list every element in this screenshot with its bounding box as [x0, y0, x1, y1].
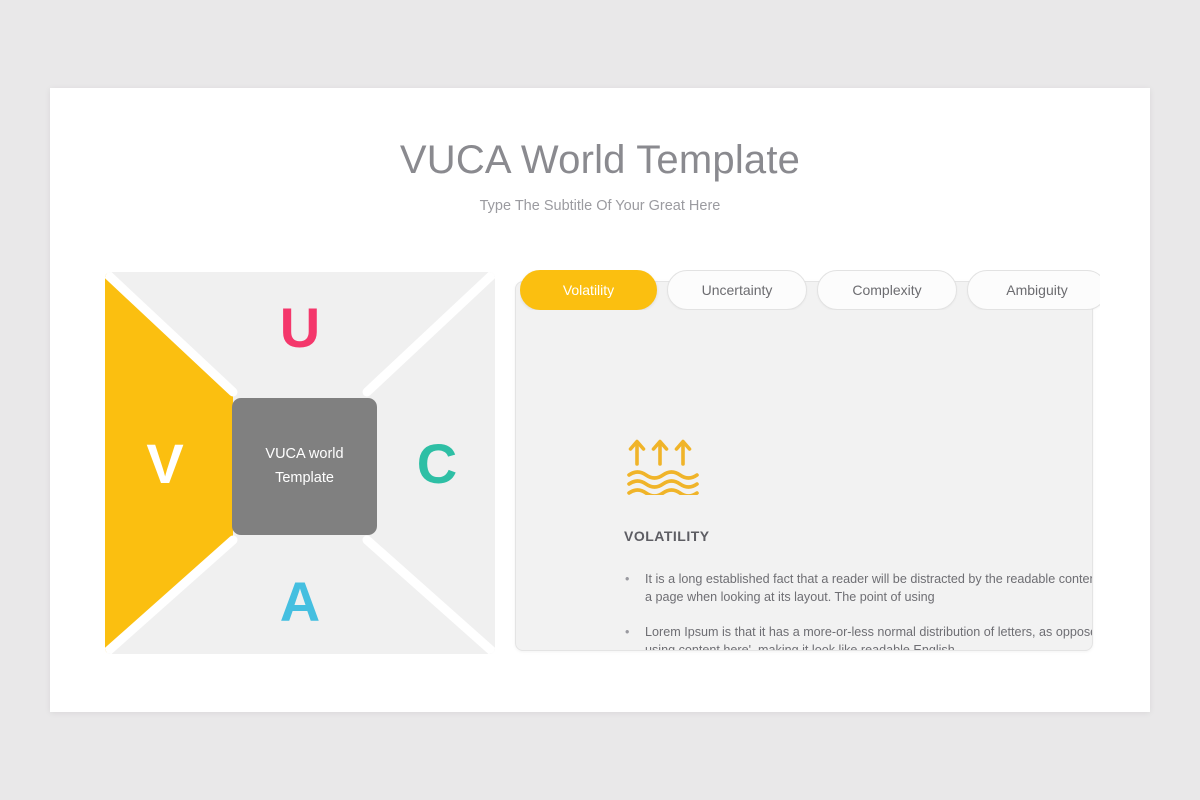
page-subtitle: Type The Subtitle Of Your Great Here [50, 198, 1150, 214]
page-title: VUCA World Template [50, 138, 1150, 182]
tab-ambiguity[interactable]: Ambiguity [967, 270, 1100, 310]
vuca-letter-v[interactable]: V [135, 436, 195, 492]
vuca-center-box[interactable]: VUCA world Template [232, 398, 377, 535]
panel-heading: VOLATILITY [624, 528, 710, 544]
tab-ambiguity-label: Ambiguity [1006, 282, 1067, 298]
vuca-diagram: VUCA world Template V U C A [105, 272, 495, 654]
tab-uncertainty[interactable]: Uncertainty [667, 270, 807, 310]
vuca-center-line-2: Template [275, 467, 334, 490]
vuca-letter-u[interactable]: U [270, 300, 330, 356]
wave-lines-group [629, 472, 697, 495]
list-item-text: It is a long established fact that a rea… [645, 572, 1093, 604]
tab-complexity[interactable]: Complexity [817, 270, 957, 310]
list-item: • Lorem Ipsum is that it has a more-or-l… [621, 623, 1093, 652]
bullet-list: • It is a long established fact that a r… [621, 570, 1093, 651]
tab-uncertainty-label: Uncertainty [702, 282, 773, 298]
arrow-up-group [631, 442, 690, 465]
vuca-center-line-1: VUCA world [265, 443, 343, 466]
tab-bar: Volatility Uncertainty Complexity Ambigu… [520, 270, 1100, 310]
list-item-text: Lorem Ipsum is that it has a more-or-les… [645, 625, 1093, 652]
tab-volatility[interactable]: Volatility [520, 270, 657, 310]
evaporation-waves-icon [626, 437, 700, 500]
tab-volatility-label: Volatility [563, 282, 614, 298]
bullet-marker: • [625, 623, 629, 641]
vuca-letter-c[interactable]: C [407, 436, 467, 492]
detail-panel: VOLATILITY • It is a long established fa… [515, 281, 1093, 651]
tab-complexity-label: Complexity [852, 282, 921, 298]
vuca-letter-a[interactable]: A [270, 574, 330, 630]
slide-card: VUCA World Template Type The Subtitle Of… [50, 88, 1150, 712]
list-item: • It is a long established fact that a r… [621, 570, 1093, 607]
bullet-marker: • [625, 570, 629, 588]
